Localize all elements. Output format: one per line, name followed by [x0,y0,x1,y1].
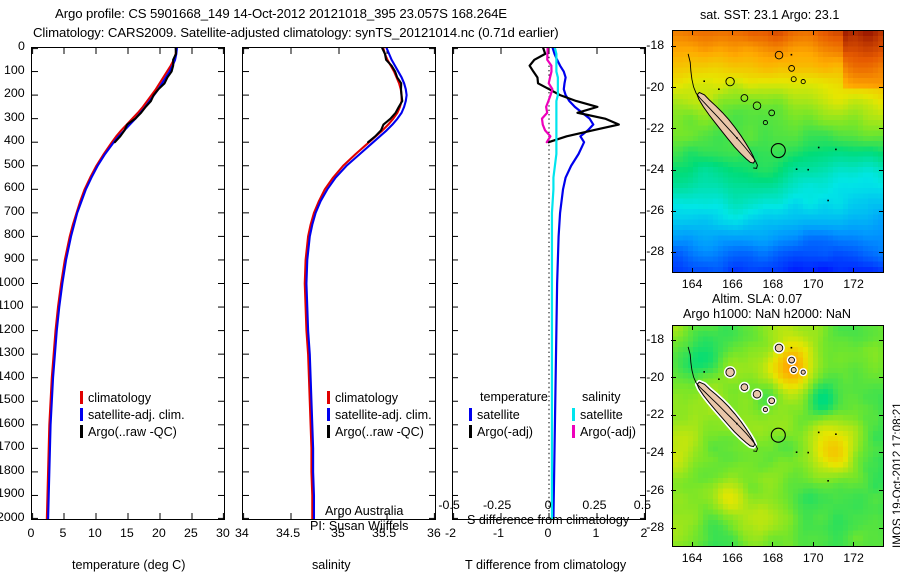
sla-map-title-line2: Argo h1000: NaN h2000: NaN [683,307,851,321]
sdiff-tick-0.25: 0.25 [582,498,606,512]
sla-map-lon-tickmark [692,325,693,330]
sst-map-title: sat. SST: 23.1 Argo: 23.1 [700,8,839,22]
sst-map-lon-tickmark [813,268,814,273]
sla-map-lon-tickmark [772,325,773,330]
tdiff-tick-1: 1 [593,526,600,540]
sst-map-lat-tickmark [879,87,884,88]
depth-tick-1100: 1100 [0,298,24,312]
sla-map-lat-tickmark [879,377,884,378]
sst-map-lat-tickmark [879,170,884,171]
sal-tick-36: 36 [427,526,441,540]
difference-legend-temp-swatch-icon [469,425,472,438]
page-title-line2: Climatology: CARS2009. Satellite-adjuste… [33,25,559,40]
temp-tick-30: 30 [216,526,230,540]
depth-tick-0: 0 [18,39,25,53]
temp-tick-5: 5 [60,526,67,540]
difference-temperature-axis-label: T difference from climatology [465,558,626,572]
depth-tick-1500: 1500 [0,392,25,406]
sla-map-lon-tickmark [813,542,814,547]
depth-tick-1000: 1000 [0,275,25,289]
temperature-legend-row: Argo(..raw -QC) [80,423,185,440]
sla-map-lat-tickmark [879,490,884,491]
sla-map [672,325,884,547]
difference-legend-temp-label: satellite [477,408,520,422]
sla-map-lon-tickmark [692,542,693,547]
salinity-xaxis-label: salinity [312,558,351,572]
temp-tick-15: 15 [120,526,134,540]
sst-map-lon-tickmark [692,30,693,35]
sla-map-lat--22: -22 [646,407,664,421]
argo-australia-credit: Argo Australia [325,504,403,518]
depth-tick-200: 200 [4,86,25,100]
sst-map [672,30,884,273]
sla-map-lat-tickmark [671,377,676,378]
difference-legend-sal-swatch-icon [572,425,575,438]
temperature-legend-swatch-icon [80,425,83,438]
difference-legend-temp-swatch-icon [469,408,472,421]
depth-tick-1800: 1800 [0,463,25,477]
depth-tick-400: 400 [4,133,25,147]
sla-map-title-line1: Altim. SLA: 0.07 [712,292,802,306]
depth-tick-500: 500 [4,157,25,171]
sst-map-lat--22: -22 [646,121,664,135]
depth-tick-2000: 2000 [0,510,25,524]
difference-legend-sal-row: Argo(-adj) [572,423,636,440]
difference-legend-sal-label: satellite [580,408,623,422]
sst-map-lat-tickmark [671,46,676,47]
depth-tick-300: 300 [4,110,25,124]
temperature-legend-label: satellite-adj. clim. [88,408,185,422]
difference-legend-salinity: satelliteArgo(-adj) [572,406,636,440]
salinity-legend: climatologysatellite-adj. clim.Argo(..ra… [327,389,432,440]
depth-tick-1700: 1700 [0,439,25,453]
difference-legend-temp-label: Argo(-adj) [477,425,533,439]
sla-map-lat-tickmark [879,452,884,453]
sla-map-lon-tickmark [853,325,854,330]
sst-map-lon-tickmark [772,268,773,273]
sla-map-lat-tickmark [879,528,884,529]
salinity-panel [242,47,436,520]
temperature-xaxis-label: temperature (deg C) [72,558,185,572]
tdiff-tick--1: -1 [493,526,504,540]
sst-map-lat-tickmark [671,252,676,253]
sla-map-lat--20: -20 [646,370,664,384]
tdiff-tick-0: 0 [545,526,552,540]
argo-pi-credit: PI: Susan Wijffels [310,519,408,533]
sla-map-lat-tickmark [671,340,676,341]
salinity-legend-label: satellite-adj. clim. [335,408,432,422]
sst-map-raster [673,31,883,272]
sst-map-lon-tickmark [692,268,693,273]
salinity-plot [243,48,435,519]
sst-map-lat-tickmark [671,128,676,129]
salinity-legend-row: climatology [327,389,432,406]
sla-map-lat-tickmark [879,340,884,341]
imos-timestamp: IMOS 19-Oct-2012 17:08:21 [891,548,900,561]
temp-tick-0: 0 [28,526,35,540]
sdiff-tick--0.25: -0.25 [483,498,511,512]
difference-legend-salinity-header: salinity [582,390,621,404]
sst-map-lon-tickmark [853,30,854,35]
difference-legend-temperature-header: temperature [480,390,548,404]
difference-legend-temperature: satelliteArgo(-adj) [469,406,533,440]
sla-map-lon-170: 170 [803,551,824,565]
page-title-line1: Argo profile: CS 5901668_149 14-Oct-2012… [55,6,507,21]
difference-salinity-axis-label: S difference from climatology [467,513,629,527]
salinity-legend-label: Argo(..raw -QC) [335,425,424,439]
depth-tick-1600: 1600 [0,416,25,430]
sst-map-lat--20: -20 [646,80,664,94]
sla-map-lat-tickmark [879,415,884,416]
depth-tick-900: 900 [4,251,25,265]
temperature-legend: climatologysatellite-adj. clim.Argo(..ra… [80,389,185,440]
depth-tick-1200: 1200 [0,322,25,336]
sdiff-tick--0.5: -0.5 [438,498,459,512]
sla-map-lat-tickmark [671,490,676,491]
depth-tick-100: 100 [4,63,25,77]
sla-map-lon-tickmark [732,542,733,547]
temperature-legend-row: climatology [80,389,185,406]
sla-map-lon-172: 172 [843,551,864,565]
sst-map-lat--24: -24 [646,162,664,176]
sla-map-lon-168: 168 [762,551,783,565]
sla-map-lon-tickmark [772,542,773,547]
sla-map-lat-tickmark [671,528,676,529]
temperature-legend-swatch-icon [80,391,83,404]
temp-tick-20: 20 [152,526,166,540]
sst-map-lat-tickmark [879,46,884,47]
temperature-legend-label: Argo(..raw -QC) [88,425,177,439]
sst-map-lon-168: 168 [762,277,783,291]
depth-tick-1900: 1900 [0,486,25,500]
sst-map-lat-tickmark [671,170,676,171]
sst-map-lon-166: 166 [722,277,743,291]
sst-map-lat--18: -18 [646,38,664,52]
difference-legend-temp-row: satellite [469,406,533,423]
sst-map-lon-tickmark [853,268,854,273]
sla-map-lon-tickmark [813,325,814,330]
sla-map-lat--26: -26 [646,483,664,497]
sst-map-lon-tickmark [813,30,814,35]
sst-map-lat-tickmark [671,211,676,212]
sla-map-raster [673,326,883,546]
sst-map-lat--26: -26 [646,203,664,217]
difference-legend-sal-swatch-icon [572,408,575,421]
difference-legend-sal-row: satellite [572,406,636,423]
salinity-legend-row: satellite-adj. clim. [327,406,432,423]
depth-tick-700: 700 [4,204,25,218]
difference-legend-temp-row: Argo(-adj) [469,423,533,440]
sst-map-lon-tickmark [772,30,773,35]
salinity-legend-row: Argo(..raw -QC) [327,423,432,440]
sla-map-lat-tickmark [671,452,676,453]
difference-legend-sal-label: Argo(-adj) [580,425,636,439]
sla-map-lon-164: 164 [682,551,703,565]
salinity-legend-swatch-icon [327,425,330,438]
temperature-legend-swatch-icon [80,408,83,421]
salinity-legend-swatch-icon [327,391,330,404]
temperature-plot [32,48,224,519]
depth-tick-600: 600 [4,180,25,194]
salinity-legend-swatch-icon [327,408,330,421]
sdiff-tick-0: 0 [545,498,552,512]
sst-map-lon-tickmark [732,30,733,35]
sla-map-lon-166: 166 [722,551,743,565]
sst-map-lon-tickmark [732,268,733,273]
sla-map-lon-tickmark [853,542,854,547]
sdiff-tick-0.5: 0.5 [634,498,651,512]
sst-map-lon-164: 164 [682,277,703,291]
temp-tick-10: 10 [88,526,102,540]
sst-map-lat-tickmark [879,211,884,212]
sal-tick-34: 34 [235,526,249,540]
sal-tick-34.5: 34.5 [276,526,300,540]
sst-map-lat-tickmark [671,87,676,88]
sst-map-lon-172: 172 [843,277,864,291]
temperature-legend-row: satellite-adj. clim. [80,406,185,423]
salinity-legend-label: climatology [335,391,398,405]
sla-map-lat--18: -18 [646,332,664,346]
difference-plot [453,48,645,519]
sla-map-lat--28: -28 [646,520,664,534]
difference-panel [452,47,646,520]
sst-map-lat-tickmark [879,252,884,253]
sst-map-lon-170: 170 [803,277,824,291]
sst-map-lat-tickmark [879,128,884,129]
depth-tick-1300: 1300 [0,345,25,359]
temperature-legend-label: climatology [88,391,151,405]
depth-tick-1400: 1400 [0,369,25,383]
temperature-panel [31,47,225,520]
depth-tick-800: 800 [4,227,25,241]
sla-map-lat--24: -24 [646,445,664,459]
sla-map-lat-tickmark [671,415,676,416]
tdiff-tick--2: -2 [445,526,456,540]
temp-tick-25: 25 [184,526,198,540]
sst-map-lat--28: -28 [646,244,664,258]
sla-map-lon-tickmark [732,325,733,330]
